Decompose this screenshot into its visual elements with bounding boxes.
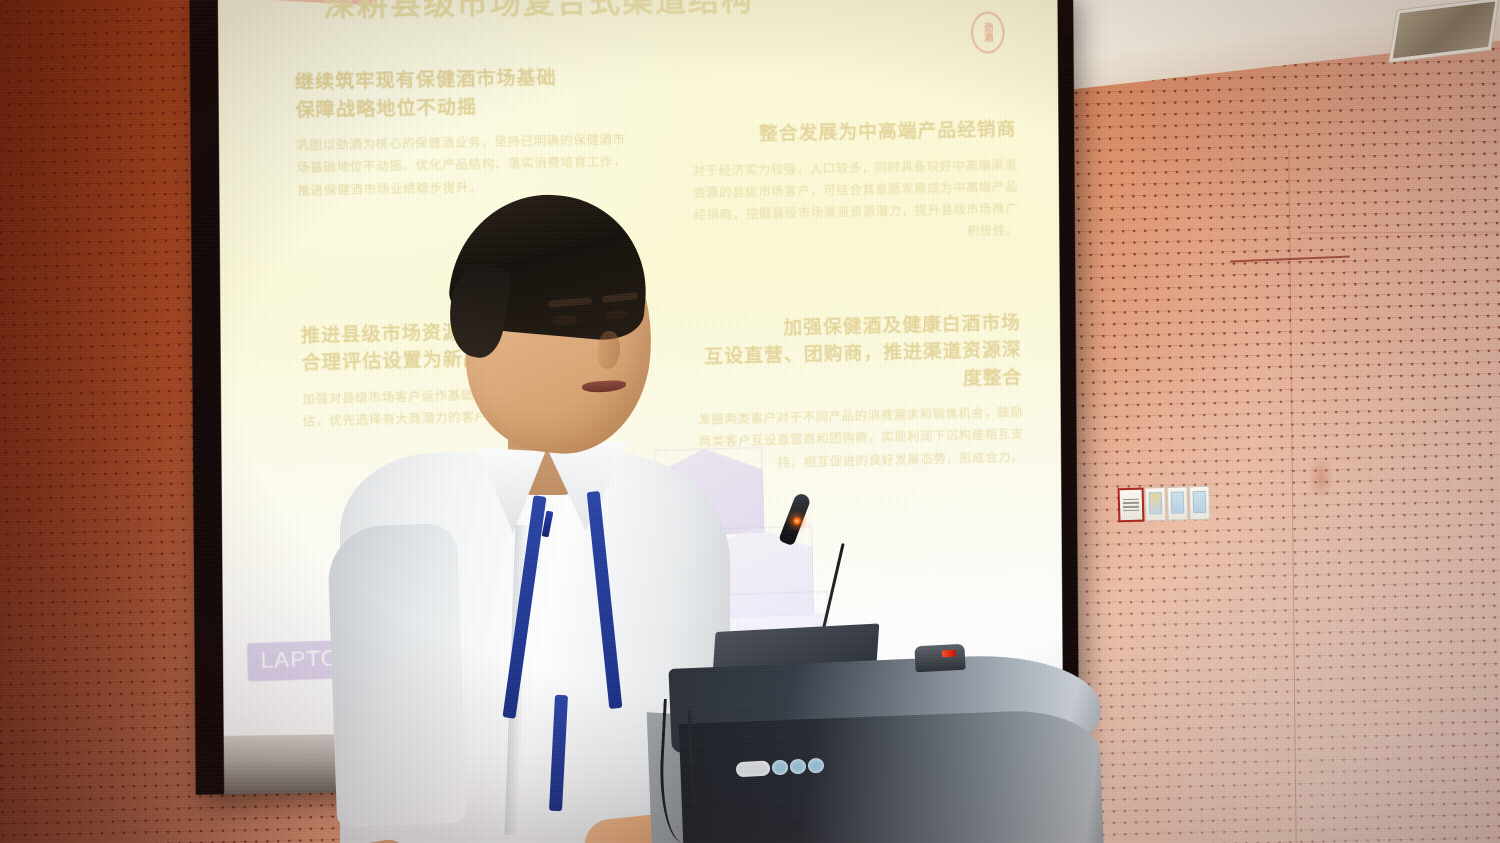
slide-body-text: 巩固以劲酒为核心的保健酒业务，坚持已明确的保健酒市场基础地位不动摇。优化产品结构…: [296, 128, 640, 202]
slide-heading-second-line: 保障战略地位不动摇: [295, 91, 638, 125]
slide-block-right-1: 整合发展为中高端产品经销商 对于经济实力较强、人口较多，同时具备较好中高端渠道资…: [689, 116, 1019, 249]
microphone-base: [914, 644, 965, 673]
brand-stamp-icon: 劲酒: [971, 12, 1005, 54]
slide-heading: 整合发展为中高端产品经销商: [689, 116, 1017, 150]
light-switch-1[interactable]: [1145, 487, 1167, 522]
slide-body-text: 对于经济实力较强、人口较多，同时具备较好中高端渠道资源的县级市场客户，可结合其意…: [690, 154, 1019, 249]
screenshot-root: 劲酒 深耕县级市场复合式渠道结构 继续筑牢现有保健酒市场基础 保障战略地位不动摇…: [0, 0, 1500, 843]
light-switch-3[interactable]: [1189, 486, 1211, 521]
microphone-base-led: [942, 650, 956, 658]
wall-switch-panel[interactable]: [1118, 486, 1211, 523]
wall-smudge: [1308, 455, 1334, 501]
brand-stamp-label: 劲酒: [983, 23, 992, 43]
slide-heading-second-line: 互设直营、团购商，推进渠道资源深度整合: [694, 337, 1022, 399]
wall-sign: [1118, 488, 1145, 523]
light-switch-2[interactable]: [1167, 486, 1189, 521]
slide-block-left-1: 继续筑牢现有保健酒市场基础 保障战略地位不动摇 巩固以劲酒为核心的保健酒业务，坚…: [294, 63, 639, 202]
speaker-left-sleeve: [327, 523, 467, 827]
